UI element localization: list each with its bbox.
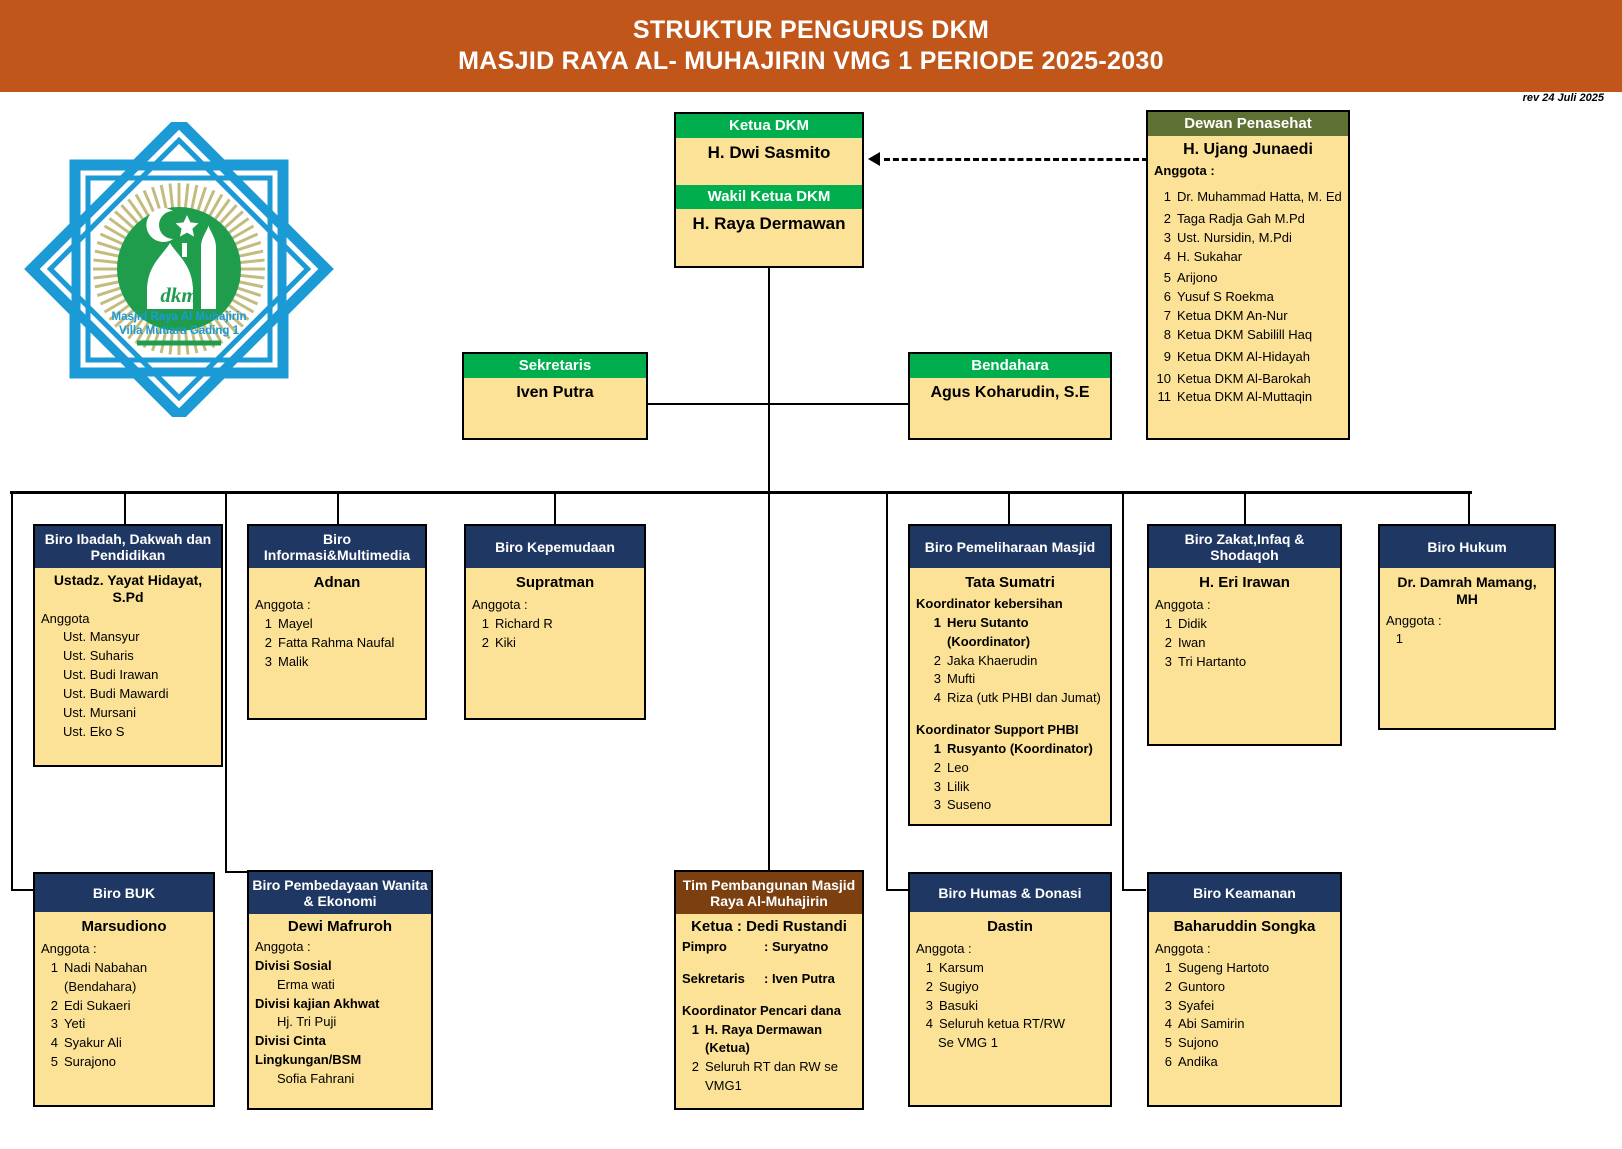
connector-dewan-arrowhead: [868, 152, 880, 166]
list-item-number: 3: [1155, 997, 1172, 1016]
wakil-ketua-dkm-header-label: Wakil Ketua DKM: [708, 188, 831, 205]
list-item: Lilik: [947, 778, 1104, 797]
biro-humas-body: Dastin Anggota : 1Karsum 2Sugiyo 3Basuki…: [910, 912, 1110, 1057]
bendahara-body: Agus Koharudin, S.E: [910, 378, 1110, 406]
biro-pemeliharaan-groups: Koordinator kebersihan 1Heru Sutanto (Ko…: [916, 595, 1104, 815]
connector-main-bus: [10, 491, 1472, 494]
list-item: Syafei: [1178, 997, 1334, 1016]
list-item: Riza (utk PHBI dan Jumat): [947, 689, 1104, 708]
list-item: Rusyanto (Koordinator): [947, 740, 1104, 759]
biro-keamanan-members: Anggota : 1Sugeng Hartoto 2Guntoro 3Syaf…: [1155, 940, 1334, 1072]
biro-hukum-header: Biro Hukum: [1380, 526, 1554, 568]
list-item-number: 2: [682, 1058, 699, 1096]
biro-ibadah-members: Anggota Ust. Mansyur Ust. Suharis Ust. B…: [41, 610, 215, 742]
list-item-number: 1: [472, 615, 489, 634]
list-item-number: 4: [41, 1034, 58, 1053]
connector-drop-hukum: [1468, 491, 1470, 524]
koordinator-pencari-dana-label: Koordinator Pencari dana: [682, 1002, 856, 1021]
biro-wanita-members-label: Anggota :: [255, 938, 425, 957]
list-item-number: 1: [1155, 615, 1172, 634]
biro-ibadah-members-label: Anggota: [41, 610, 215, 629]
connector-rail-left: [11, 491, 13, 890]
biro-buk-members-label: Anggota :: [41, 940, 207, 959]
biro-zakat-members-label: Anggota :: [1155, 596, 1334, 615]
list-item-number: 1: [682, 1021, 699, 1059]
list-item: Ust. Mursani: [41, 704, 215, 723]
connector-rail-wanita: [225, 491, 227, 872]
list-item-number: 3: [1155, 653, 1172, 672]
list-item-number: 1: [924, 614, 941, 652]
biro-buk-members: Anggota : 1Nadi Nabahan (Bendahara) 2Edi…: [41, 940, 207, 1072]
wakil-ketua-dkm-body: H. Raya Dermawan: [676, 209, 862, 238]
biro-pemeliharaan-body: Tata Sumatri Koordinator kebersihan 1Her…: [910, 568, 1110, 819]
list-item: H. Sukahar: [1177, 248, 1342, 267]
list-item: Sugeng Hartoto: [1178, 959, 1334, 978]
ketua-dkm-name: H. Dwi Sasmito: [682, 143, 856, 163]
sekretaris-header: Sekretaris: [464, 354, 646, 378]
wakil-ketua-dkm-name: H. Raya Dermawan: [682, 214, 856, 234]
biro-wanita-divisions: Anggota : Divisi Sosial Erma wati Divisi…: [255, 938, 425, 1089]
sekretaris-body: Iven Putra: [464, 378, 646, 406]
list-item: Suseno: [947, 796, 1104, 815]
bendahara-box[interactable]: Bendahara Agus Koharudin, S.E: [908, 352, 1112, 440]
dewan-penasehat-members-label: Anggota :: [1154, 162, 1342, 181]
list-item: Malik: [278, 653, 419, 672]
connector-sekretaris-bendahara: [646, 403, 910, 405]
list-item: Tri Hartanto: [1178, 653, 1334, 672]
bendahara-name: Agus Koharudin, S.E: [916, 383, 1104, 402]
list-item: Ketua DKM Al-Muttaqin: [1177, 388, 1342, 407]
sekretaris-name: Iven Putra: [470, 383, 640, 402]
division-person: Erma wati: [255, 976, 425, 995]
biro-humas-lead: Dastin: [916, 918, 1104, 936]
bendahara-header: Bendahara: [910, 354, 1110, 378]
list-item-number: 3: [255, 653, 272, 672]
biro-keamanan-box[interactable]: Biro Keamanan Baharuddin Songka Anggota …: [1147, 872, 1342, 1107]
biro-informasi-members-label: Anggota :: [255, 596, 419, 615]
koordinator-kebersihan-label: Koordinator kebersihan: [916, 595, 1104, 614]
biro-zakat-header-label: Biro Zakat,Infaq & Shodaqoh: [1151, 531, 1338, 563]
wakil-ketua-dkm-header: Wakil Ketua DKM: [676, 185, 862, 209]
division-title: Divisi Sosial: [255, 957, 425, 976]
biro-ibadah-lead: Ustadz. Yayat Hidayat, S.Pd: [41, 572, 215, 606]
banner-line-2: MASJID RAYA AL- MUHAJIRIN VMG 1 PERIODE …: [458, 48, 1164, 76]
revision-note: rev 24 Juli 2025: [1523, 92, 1604, 104]
connector-dewan-dashed: [884, 158, 1148, 161]
biro-zakat-header: Biro Zakat,Infaq & Shodaqoh: [1149, 526, 1340, 568]
dewan-penasehat-box[interactable]: Dewan Penasehat H. Ujang Junaedi Anggota…: [1146, 110, 1350, 440]
biro-kepemudaan-body: Supratman Anggota : 1Richard R 2Kiki: [466, 568, 644, 657]
connector-drop-pemeliharaan: [1008, 491, 1010, 524]
list-item-number: 6: [1155, 1053, 1172, 1072]
biro-hukum-members-label: Anggota :: [1386, 612, 1548, 631]
biro-hukum-lead: Dr. Damrah Mamang, MH: [1386, 574, 1548, 608]
list-item-number: 1: [41, 959, 58, 997]
list-item-number: 1: [255, 615, 272, 634]
list-item: Ust. Eko S: [41, 723, 215, 742]
list-item-number: 3: [916, 997, 933, 1016]
list-item-number: 5: [41, 1053, 58, 1072]
dewan-penasehat-name: H. Ujang Junaedi: [1154, 140, 1342, 159]
biro-ibadah-body: Ustadz. Yayat Hidayat, S.Pd Anggota Ust.…: [35, 568, 221, 746]
masjid-logo: dkm Masjid Raya Al Muhajirin Villa Mutia…: [14, 122, 344, 417]
dewan-penasehat-header: Dewan Penasehat: [1148, 112, 1348, 136]
list-item-number: 2: [1155, 978, 1172, 997]
division-person: Hj. Tri Puji: [255, 1013, 425, 1032]
list-item: [1409, 630, 1548, 649]
org-chart-canvas: STRUKTUR PENGURUS DKM MASJID RAYA AL- MU…: [0, 0, 1622, 1149]
sekretaris-value: : Iven Putra: [764, 970, 835, 989]
biro-pemeliharaan-header: Biro Pemeliharaan Masjid: [910, 526, 1110, 568]
connector-ketua-down: [768, 267, 770, 494]
list-item-number: 3: [41, 1015, 58, 1034]
list-item: Ust. Suharis: [41, 647, 215, 666]
biro-buk-box[interactable]: Biro BUK Marsudiono Anggota : 1Nadi Naba…: [33, 872, 215, 1107]
list-item-number: 1: [1386, 630, 1403, 649]
list-item: Ketua DKM Al-Hidayah: [1177, 348, 1342, 367]
list-item: Edi Sukaeri: [64, 997, 207, 1016]
connector-drop-ibadah: [124, 491, 126, 524]
connector-rail-keamanan: [1122, 491, 1124, 890]
list-item: Fatta Rahma Naufal: [278, 634, 419, 653]
list-item-number: 2: [924, 652, 941, 671]
tim-pembangunan-body: Ketua : Dedi Rustandi Pimpro: Suryatno S…: [676, 914, 862, 1100]
connector-drop-zakat: [1244, 491, 1246, 524]
biro-zakat-members: Anggota : 1Didik 2Iwan 3Tri Hartanto: [1155, 596, 1334, 671]
list-item: Ketua DKM Al-Barokah: [1177, 370, 1342, 389]
logo-monogram: dkm: [160, 283, 197, 307]
list-item: Mufti: [947, 670, 1104, 689]
connector-rail-humas: [886, 491, 888, 890]
biro-keamanan-header: Biro Keamanan: [1149, 874, 1340, 912]
connector-rail-tim: [768, 491, 770, 872]
biro-kepemudaan-box[interactable]: Biro Kepemudaan Supratman Anggota : 1Ric…: [464, 524, 646, 720]
biro-humas-members-label: Anggota :: [916, 940, 1104, 959]
biro-informasi-box[interactable]: Biro Informasi&Multimedia Adnan Anggota …: [247, 524, 427, 720]
bendahara-header-label: Bendahara: [971, 357, 1049, 374]
biro-hukum-box[interactable]: Biro Hukum Dr. Damrah Mamang, MH Anggota…: [1378, 524, 1556, 730]
biro-ibadah-header-label: Biro Ibadah, Dakwah dan Pendidikan: [37, 531, 219, 563]
biro-hukum-members: Anggota : 1: [1386, 612, 1548, 650]
list-item-number: 3: [924, 670, 941, 689]
biro-ibadah-box[interactable]: Biro Ibadah, Dakwah dan Pendidikan Ustad…: [33, 524, 223, 767]
list-item: Sujono: [1178, 1034, 1334, 1053]
biro-wanita-header-label: Biro Pembedayaan Wanita & Ekonomi: [251, 877, 429, 909]
connector-drop-kepemudaan: [554, 491, 556, 524]
list-item-number: 3: [924, 778, 941, 797]
list-item: Didik: [1178, 615, 1334, 634]
connector-rail-left-to-buk: [11, 889, 35, 891]
tim-pembangunan-header-label: Tim Pembangunan Masjid Raya Al-Muhajirin: [678, 877, 860, 909]
list-item-number: 3: [924, 796, 941, 815]
biro-ibadah-header: Biro Ibadah, Dakwah dan Pendidikan: [35, 526, 221, 568]
biro-wanita-lead: Dewi Mafruroh: [255, 918, 425, 936]
tim-pembangunan-details: Pimpro: Suryatno Sekretaris: Iven Putra …: [682, 938, 856, 1096]
tim-pembangunan-header: Tim Pembangunan Masjid Raya Al-Muhajirin: [676, 872, 862, 914]
connector-rail-to-keamanan: [1122, 889, 1146, 891]
list-item: Ketua DKM An-Nur: [1177, 307, 1342, 326]
dewan-penasehat-header-label: Dewan Penasehat: [1184, 115, 1312, 132]
biro-buk-header-label: Biro BUK: [93, 885, 155, 901]
list-item: Basuki: [939, 997, 1104, 1016]
biro-informasi-body: Adnan Anggota : 1Mayel 2Fatta Rahma Nauf…: [249, 568, 425, 675]
list-item: Seluruh RT dan RW se VMG1: [705, 1058, 856, 1096]
koordinator-support-phbi-label: Koordinator Support PHBI: [916, 721, 1104, 740]
connector-drop-informasi: [337, 491, 339, 524]
list-item: Sugiyo: [939, 978, 1104, 997]
biro-hukum-body: Dr. Damrah Mamang, MH Anggota : 1: [1380, 568, 1554, 653]
list-item: Seluruh ketua RT/RW: [939, 1015, 1104, 1034]
biro-humas-header: Biro Humas & Donasi: [910, 874, 1110, 912]
logo-line-2: Villa Mutiara Gading 1: [119, 325, 240, 337]
biro-informasi-members: Anggota : 1Mayel 2Fatta Rahma Naufal 3Ma…: [255, 596, 419, 671]
division-title: Divisi Cinta Lingkungan/BSM: [255, 1032, 425, 1070]
list-item-number: 1: [916, 959, 933, 978]
tim-pembangunan-box[interactable]: Tim Pembangunan Masjid Raya Al-Muhajirin…: [674, 870, 864, 1110]
sekretaris-box[interactable]: Sekretaris Iven Putra: [462, 352, 648, 440]
biro-humas-box[interactable]: Biro Humas & Donasi Dastin Anggota : 1Ka…: [908, 872, 1112, 1107]
banner-line-1: STRUKTUR PENGURUS DKM: [633, 17, 989, 45]
biro-pemeliharaan-lead: Tata Sumatri: [916, 574, 1104, 592]
biro-keamanan-lead: Baharuddin Songka: [1155, 918, 1334, 936]
pimpro-label: Pimpro: [682, 938, 764, 957]
biro-hukum-header-label: Biro Hukum: [1427, 539, 1506, 555]
list-item: Arijono: [1177, 269, 1342, 288]
list-item: Karsum: [939, 959, 1104, 978]
biro-kepemudaan-header-label: Biro Kepemudaan: [495, 539, 615, 555]
biro-informasi-lead: Adnan: [255, 574, 419, 592]
list-item: Leo: [947, 759, 1104, 778]
biro-keamanan-body: Baharuddin Songka Anggota : 1Sugeng Hart…: [1149, 912, 1340, 1076]
list-item: Heru Sutanto (Koordinator): [947, 614, 1104, 652]
list-item-number: 4: [924, 689, 941, 708]
title-banner: STRUKTUR PENGURUS DKM MASJID RAYA AL- MU…: [0, 0, 1622, 92]
pimpro-value: : Suryatno: [764, 938, 828, 957]
sekretaris-header-label: Sekretaris: [519, 357, 592, 374]
division-title: Divisi kajian Akhwat: [255, 995, 425, 1014]
logo-line-1: Masjid Raya Al Muhajirin: [111, 311, 246, 323]
ketua-dkm-header: Ketua DKM: [676, 114, 862, 138]
list-item: Ust. Budi Irawan: [41, 666, 215, 685]
list-item: H. Raya Dermawan (Ketua): [705, 1021, 856, 1059]
list-item-number: 4: [916, 1015, 933, 1034]
list-item: Guntoro: [1178, 978, 1334, 997]
list-item-number: 1: [924, 740, 941, 759]
ketua-dkm-header-label: Ketua DKM: [729, 117, 809, 134]
list-item: Taga Radja Gah M.Pd: [1177, 210, 1342, 229]
list-item: Yeti: [64, 1015, 207, 1034]
biro-kepemudaan-lead: Supratman: [472, 574, 638, 592]
division-person: Sofia Fahrani: [255, 1070, 425, 1089]
biro-keamanan-header-label: Biro Keamanan: [1193, 885, 1296, 901]
list-item-number: 2: [472, 634, 489, 653]
biro-pemeliharaan-box[interactable]: Biro Pemeliharaan Masjid Tata Sumatri Ko…: [908, 524, 1112, 826]
list-item-number: 2: [916, 978, 933, 997]
list-item: Andika: [1178, 1053, 1334, 1072]
list-item: Ketua DKM Sabilill Haq: [1177, 326, 1342, 345]
biro-zakat-lead: H. Eri Irawan: [1155, 574, 1334, 592]
list-item-number: 2: [1155, 634, 1172, 653]
biro-kepemudaan-members: Anggota : 1Richard R 2Kiki: [472, 596, 638, 653]
biro-wanita-box[interactable]: Biro Pembedayaan Wanita & Ekonomi Dewi M…: [247, 870, 433, 1110]
connector-rail-to-wanita: [225, 871, 249, 873]
dewan-penasehat-members: Anggota : 1Dr. Muhammad Hatta, M. Ed 2Ta…: [1154, 162, 1342, 407]
dewan-penasehat-body: H. Ujang Junaedi Anggota : 1Dr. Muhammad…: [1148, 136, 1348, 411]
biro-keamanan-members-label: Anggota :: [1155, 940, 1334, 959]
sekretaris-label: Sekretaris: [682, 970, 764, 989]
list-item: Yusuf S Roekma: [1177, 288, 1342, 307]
list-item-continuation: Se VMG 1: [916, 1034, 1104, 1053]
list-item: Nadi Nabahan (Bendahara): [64, 959, 207, 997]
biro-zakat-box[interactable]: Biro Zakat,Infaq & Shodaqoh H. Eri Irawa…: [1147, 524, 1342, 746]
list-item: Syakur Ali: [64, 1034, 207, 1053]
biro-buk-header: Biro BUK: [35, 874, 213, 912]
biro-humas-header-label: Biro Humas & Donasi: [938, 885, 1081, 901]
biro-informasi-header: Biro Informasi&Multimedia: [249, 526, 425, 568]
biro-kepemudaan-header: Biro Kepemudaan: [466, 526, 644, 568]
list-item: Iwan: [1178, 634, 1334, 653]
list-item-number: 5: [1155, 1034, 1172, 1053]
list-item: Jaka Khaerudin: [947, 652, 1104, 671]
biro-pemeliharaan-header-label: Biro Pemeliharaan Masjid: [925, 539, 1095, 555]
tim-pembangunan-lead: Ketua : Dedi Rustandi: [682, 918, 856, 936]
biro-zakat-body: H. Eri Irawan Anggota : 1Didik 2Iwan 3Tr…: [1149, 568, 1340, 675]
list-item: Mayel: [278, 615, 419, 634]
biro-buk-body: Marsudiono Anggota : 1Nadi Nabahan (Bend…: [35, 912, 213, 1076]
ketua-dkm-body: H. Dwi Sasmito: [676, 138, 862, 185]
connector-rail-to-humas: [886, 889, 910, 891]
list-item-number: 4: [1155, 1015, 1172, 1034]
ketua-dkm-box[interactable]: Ketua DKM H. Dwi Sasmito Wakil Ketua DKM…: [674, 112, 864, 268]
biro-informasi-header-label: Biro Informasi&Multimedia: [251, 531, 423, 563]
biro-wanita-body: Dewi Mafruroh Anggota : Divisi Sosial Er…: [249, 914, 431, 1093]
list-item: Ust. Mansyur: [41, 628, 215, 647]
list-item: Richard R: [495, 615, 638, 634]
list-item-number: 2: [924, 759, 941, 778]
list-item-number: 1: [1155, 959, 1172, 978]
biro-wanita-header: Biro Pembedayaan Wanita & Ekonomi: [249, 872, 431, 914]
list-item: Kiki: [495, 634, 638, 653]
list-item: Surajono: [64, 1053, 207, 1072]
list-item: Ust. Budi Mawardi: [41, 685, 215, 704]
list-item-number: 2: [255, 634, 272, 653]
biro-kepemudaan-members-label: Anggota :: [472, 596, 638, 615]
list-item-number: 2: [41, 997, 58, 1016]
logo-icon: dkm Masjid Raya Al Muhajirin Villa Mutia…: [14, 122, 344, 417]
biro-buk-lead: Marsudiono: [41, 918, 207, 936]
biro-humas-members: Anggota : 1Karsum 2Sugiyo 3Basuki 4Selur…: [916, 940, 1104, 1053]
list-item: Dr. Muhammad Hatta, M. Ed: [1177, 188, 1342, 207]
list-item: Abi Samirin: [1178, 1015, 1334, 1034]
list-item: Ust. Nursidin, M.Pdi: [1177, 229, 1342, 248]
